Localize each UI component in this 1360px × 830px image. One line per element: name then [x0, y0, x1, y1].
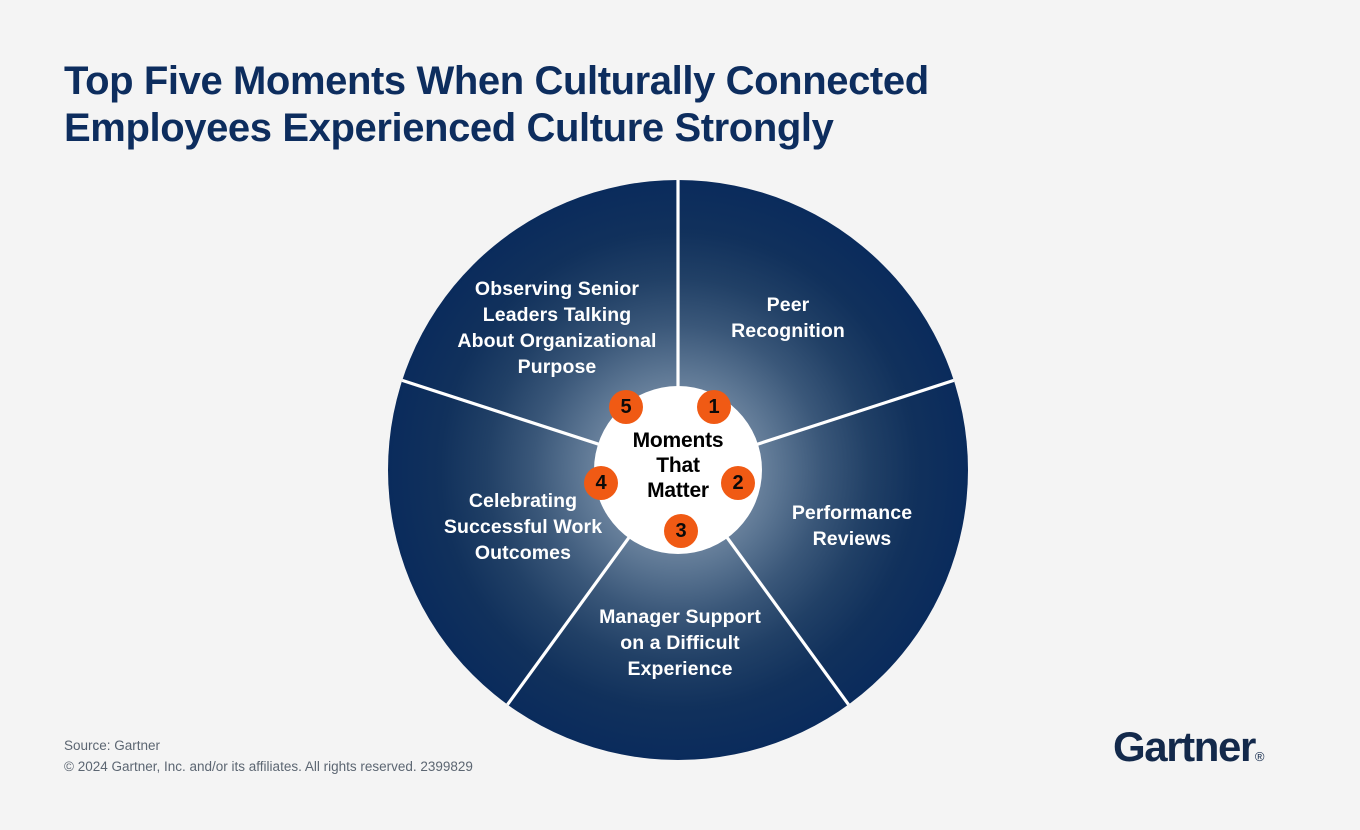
source-line: Source: Gartner — [64, 735, 473, 756]
page-title: Top Five Moments When Culturally Connect… — [64, 58, 1124, 152]
badge-number-5: 5 — [609, 390, 643, 424]
moments-wheel-diagram: Peer Recognition Performance Reviews Man… — [388, 180, 968, 760]
badge-number-2: 2 — [721, 466, 755, 500]
badge-number-3: 3 — [664, 514, 698, 548]
gartner-logo: Gartner® — [1113, 725, 1265, 779]
source-attribution: Source: Gartner © 2024 Gartner, Inc. and… — [64, 735, 473, 777]
page-title-line-1: Top Five Moments When Culturally Connect… — [64, 58, 1124, 105]
center-label-line-1: Moments — [603, 428, 753, 453]
copyright-line: © 2024 Gartner, Inc. and/or its affiliat… — [64, 756, 473, 777]
registered-trademark-icon: ® — [1255, 749, 1265, 764]
badge-number-1: 1 — [697, 390, 731, 424]
page-title-line-2: Employees Experienced Culture Strongly — [64, 105, 1124, 152]
gartner-logo-text: Gartner — [1113, 723, 1255, 770]
infographic-page: Top Five Moments When Culturally Connect… — [0, 0, 1360, 830]
badge-number-4: 4 — [584, 466, 618, 500]
